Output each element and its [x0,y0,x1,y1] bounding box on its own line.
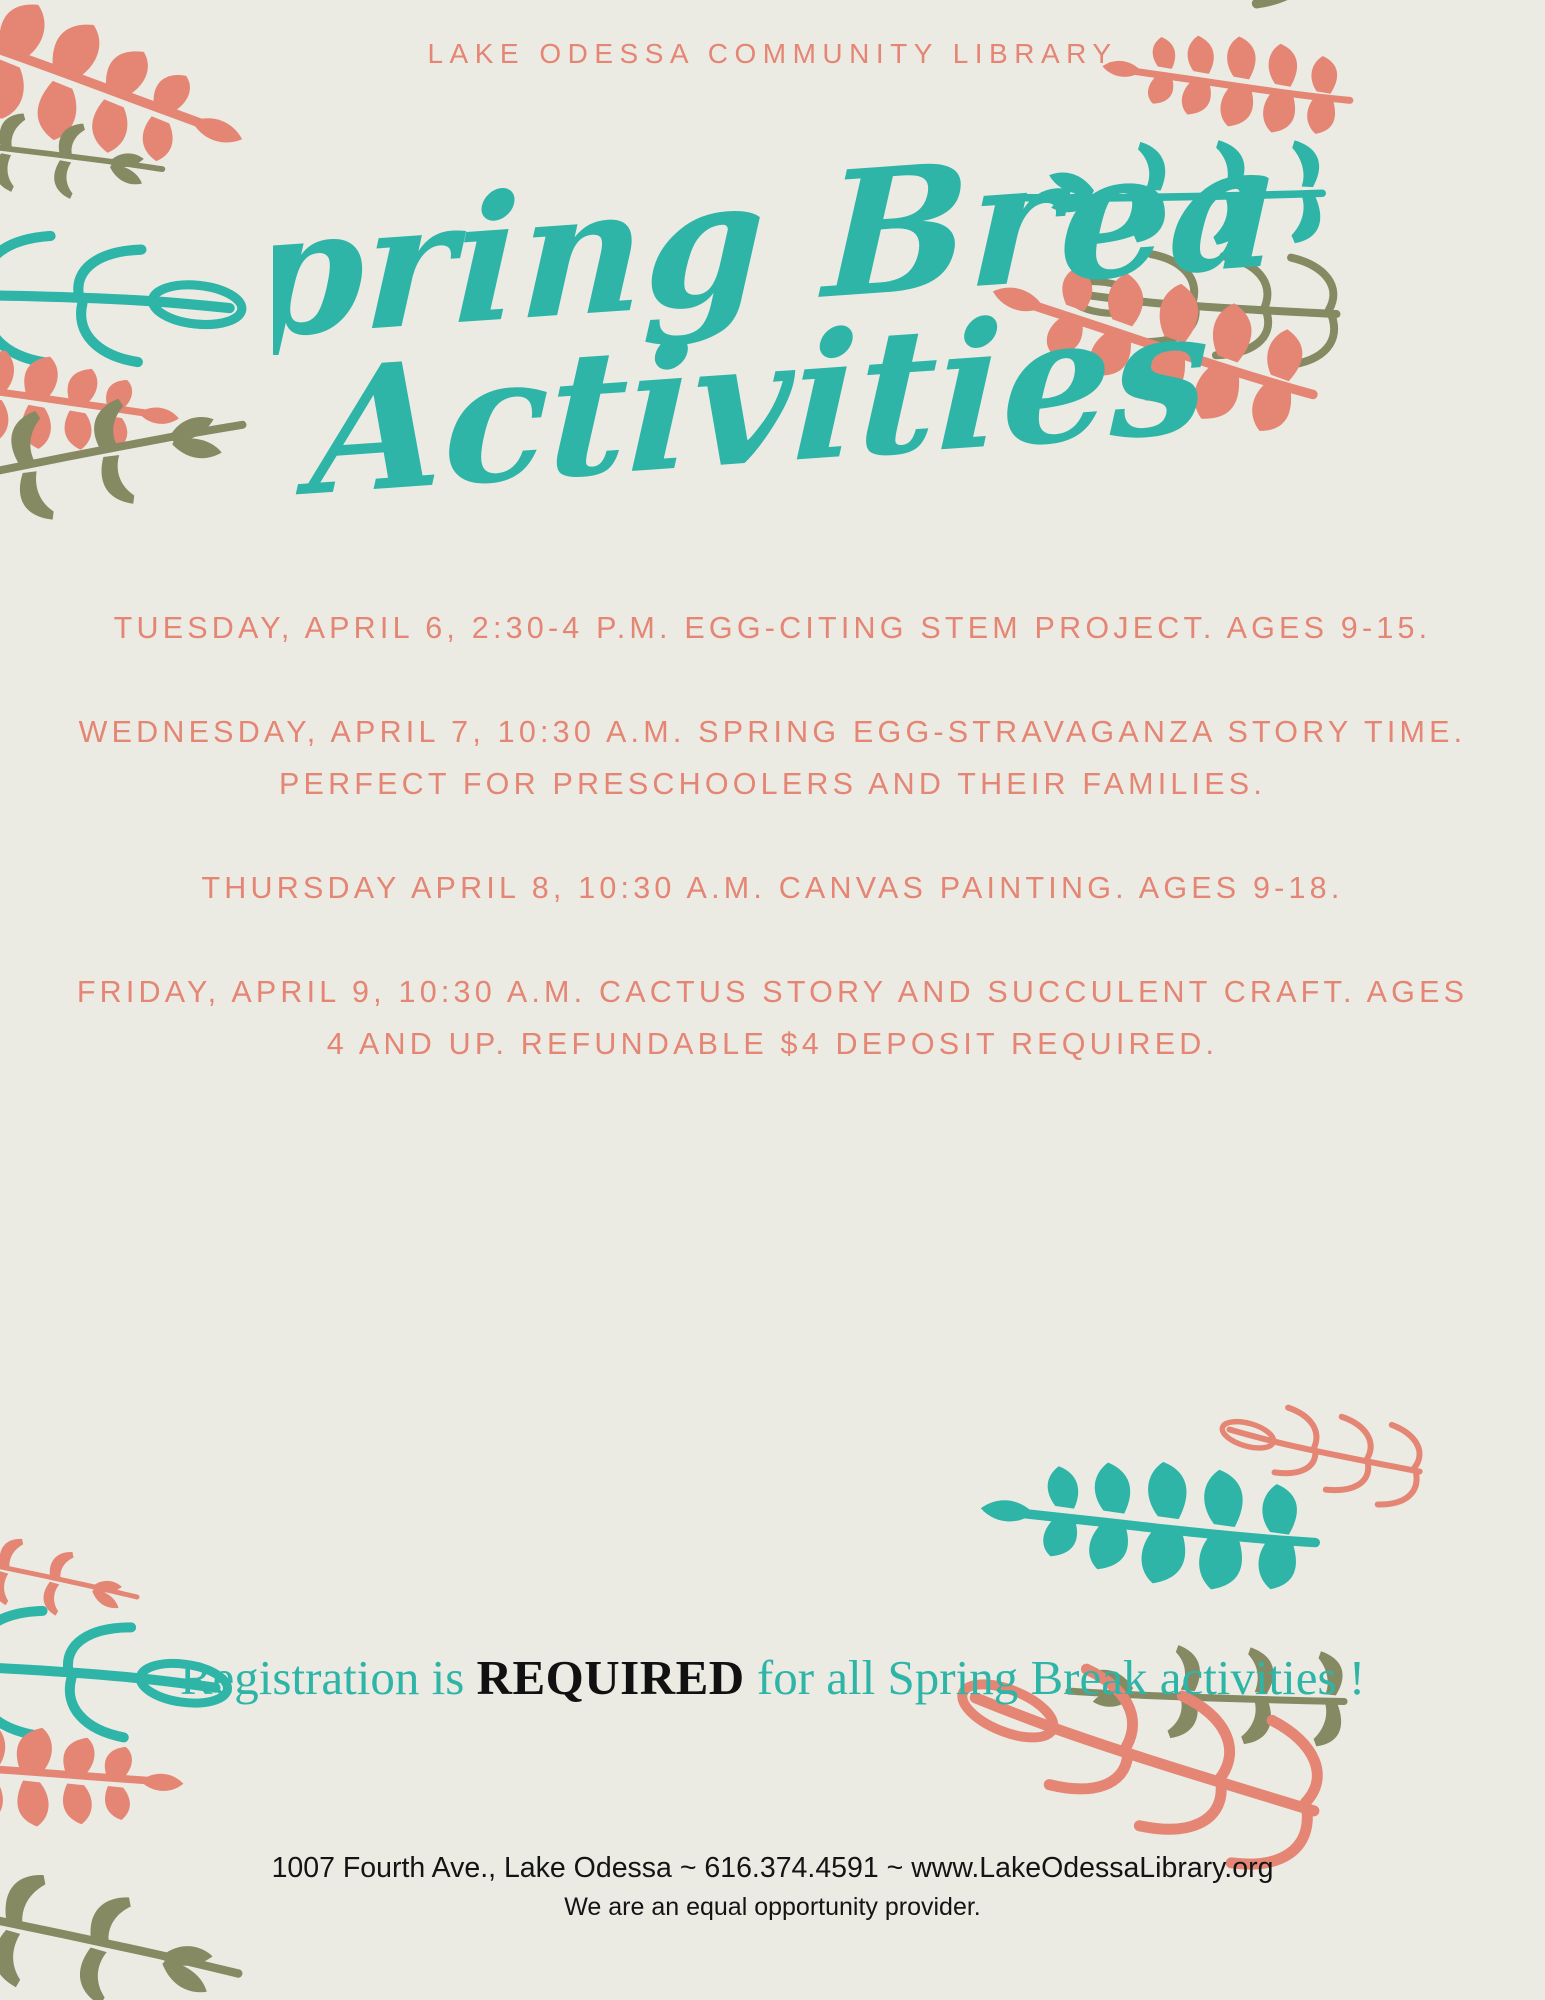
svg-text:Activities: Activities [293,303,1211,518]
footer: 1007 Fourth Ave., Lake Odessa ~ 616.374.… [0,1848,1545,1926]
registration-notice: Registration is REQUIRED for all Spring … [0,1648,1545,1708]
event-item-tuesday: TUESDAY, APRIL 6, 2:30-4 P.M. EGG-CITING… [62,602,1483,654]
event-item-thursday: THURSDAY APRIL 8, 10:30 A.M. CANVAS PAIN… [62,862,1483,914]
footer-equal-opportunity-line: We are an equal opportunity provider. [0,1888,1545,1926]
library-name-header: LAKE ODESSA COMMUNITY LIBRARY [0,38,1545,70]
registration-text-after: for all Spring Break activities ! [745,1650,1366,1705]
branch-top-right-olive [974,0,1322,9]
poster-canvas: LAKE ODESSA COMMUNITY LIBRARY Spring Bre… [0,0,1545,2000]
branch-bottom-left-coral [0,1519,144,1641]
branch-bottom-right-coral [1214,1380,1430,1513]
registration-text-before: Registration is [180,1650,477,1705]
branch-top-right-coral [1096,14,1358,146]
event-item-friday: FRIDAY, APRIL 9, 10:30 A.M. CACTUS STORY… [62,966,1483,1070]
branch-bottom-right-teal [974,1438,1324,1605]
footer-contact-line: 1007 Fourth Ave., Lake Odessa ~ 616.374.… [0,1848,1545,1888]
event-item-wednesday: WEDNESDAY, APRIL 7, 10:30 A.M. SPRING EG… [62,706,1483,810]
branch-bottom-left-coral-2 [0,1715,188,1841]
events-list: TUESDAY, APRIL 6, 2:30-4 P.M. EGG-CITING… [62,602,1483,1070]
title-line-2: Activities [273,303,1273,518]
poster-title: Spring Break Activities [0,140,1545,518]
registration-required-emphasis: REQUIRED [477,1650,745,1705]
